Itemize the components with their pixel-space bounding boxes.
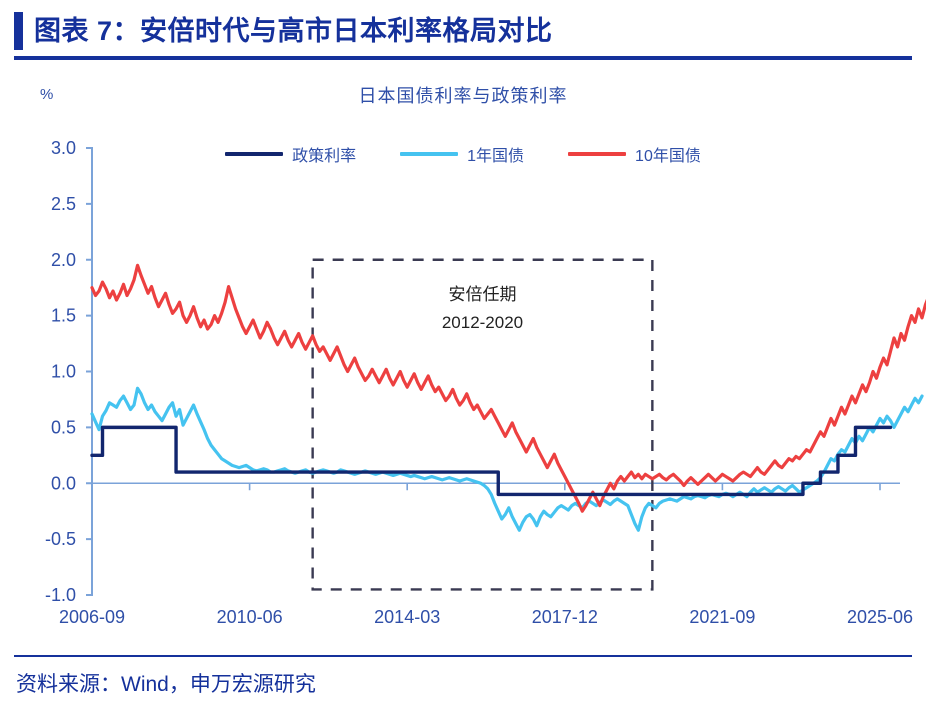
- y-axis-tick-label: 0.0: [51, 473, 76, 493]
- abe-tenure-label-line2: 2012-2020: [442, 313, 523, 332]
- x-axis-tick-label: 2006-09: [59, 607, 125, 627]
- abe-tenure-box: [313, 260, 653, 590]
- x-axis-tick-label: 2010-06: [217, 607, 283, 627]
- x-axis-group: 2006-092010-062014-032017-122021-092025-…: [59, 483, 913, 627]
- x-axis-tick-label: 2017-12: [532, 607, 598, 627]
- footer-divider-rule: [14, 655, 912, 657]
- y-axis-group: 3.02.52.01.51.00.50.0-0.5-1.0: [45, 138, 92, 605]
- y-axis-tick-label: -0.5: [45, 529, 76, 549]
- y-axis-tick-label: 2.0: [51, 250, 76, 270]
- source-note: 资料来源：Wind，申万宏源研究: [16, 668, 316, 698]
- y-axis-tick-label: 2.5: [51, 194, 76, 214]
- chart-title-band: 图表 7：安倍时代与高市日本利率格局对比: [0, 0, 926, 62]
- series-group: [92, 265, 926, 530]
- title-accent-bar: [14, 12, 23, 50]
- chart-region: % 日本国债利率与政策利率 政策利率 1年国债 10年国债 3.02.52.01…: [0, 62, 926, 652]
- title-divider-rule: [14, 56, 912, 60]
- plot-canvas: 3.02.52.01.51.00.50.0-0.5-1.0 2006-09201…: [0, 62, 926, 652]
- x-axis-tick-label: 2021-09: [689, 607, 755, 627]
- page-title: 图表 7：安倍时代与高市日本利率格局对比: [34, 18, 553, 45]
- y-axis-tick-label: 3.0: [51, 138, 76, 158]
- y-axis-tick-label: 1.0: [51, 362, 76, 382]
- abe-tenure-label-line1: 安倍任期: [448, 285, 516, 304]
- y-axis-tick-label: 0.5: [51, 417, 76, 437]
- y-axis-tick-label: -1.0: [45, 585, 76, 605]
- y-axis-tick-label: 1.5: [51, 306, 76, 326]
- x-axis-tick-label: 2014-03: [374, 607, 440, 627]
- policy-rate-line: [92, 427, 891, 494]
- annotation-group: 安倍任期2012-2020: [313, 260, 653, 590]
- x-axis-tick-label: 2025-06: [847, 607, 913, 627]
